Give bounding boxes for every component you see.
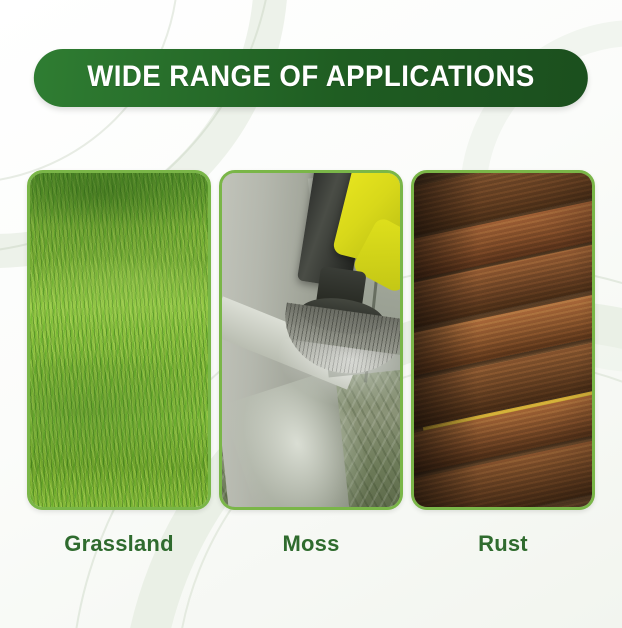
application-card-row: Grassland bbox=[0, 170, 622, 557]
grass-blades-overlay bbox=[30, 173, 208, 507]
image-frame bbox=[27, 170, 211, 510]
poster-canvas: WIDE RANGE OF APPLICATIONS Grassland bbox=[0, 0, 622, 628]
application-card-moss: Moss bbox=[221, 170, 401, 557]
moss-scene bbox=[222, 173, 400, 507]
card-caption-moss: Moss bbox=[282, 531, 339, 557]
card-caption-grassland: Grassland bbox=[64, 531, 173, 557]
title-banner: WIDE RANGE OF APPLICATIONS bbox=[34, 49, 588, 107]
image-frame bbox=[411, 170, 595, 510]
card-caption-rust: Rust bbox=[478, 531, 528, 557]
page-title: WIDE RANGE OF APPLICATIONS bbox=[87, 62, 534, 92]
grassland-photo bbox=[30, 173, 208, 507]
rust-photo bbox=[414, 173, 592, 507]
grass-texture bbox=[30, 173, 208, 507]
rust-scene bbox=[414, 173, 592, 507]
moss-photo bbox=[222, 173, 400, 507]
vignette-overlay bbox=[414, 173, 592, 507]
image-frame bbox=[219, 170, 403, 510]
application-card-rust: Rust bbox=[413, 170, 593, 557]
application-card-grassland: Grassland bbox=[29, 170, 209, 557]
